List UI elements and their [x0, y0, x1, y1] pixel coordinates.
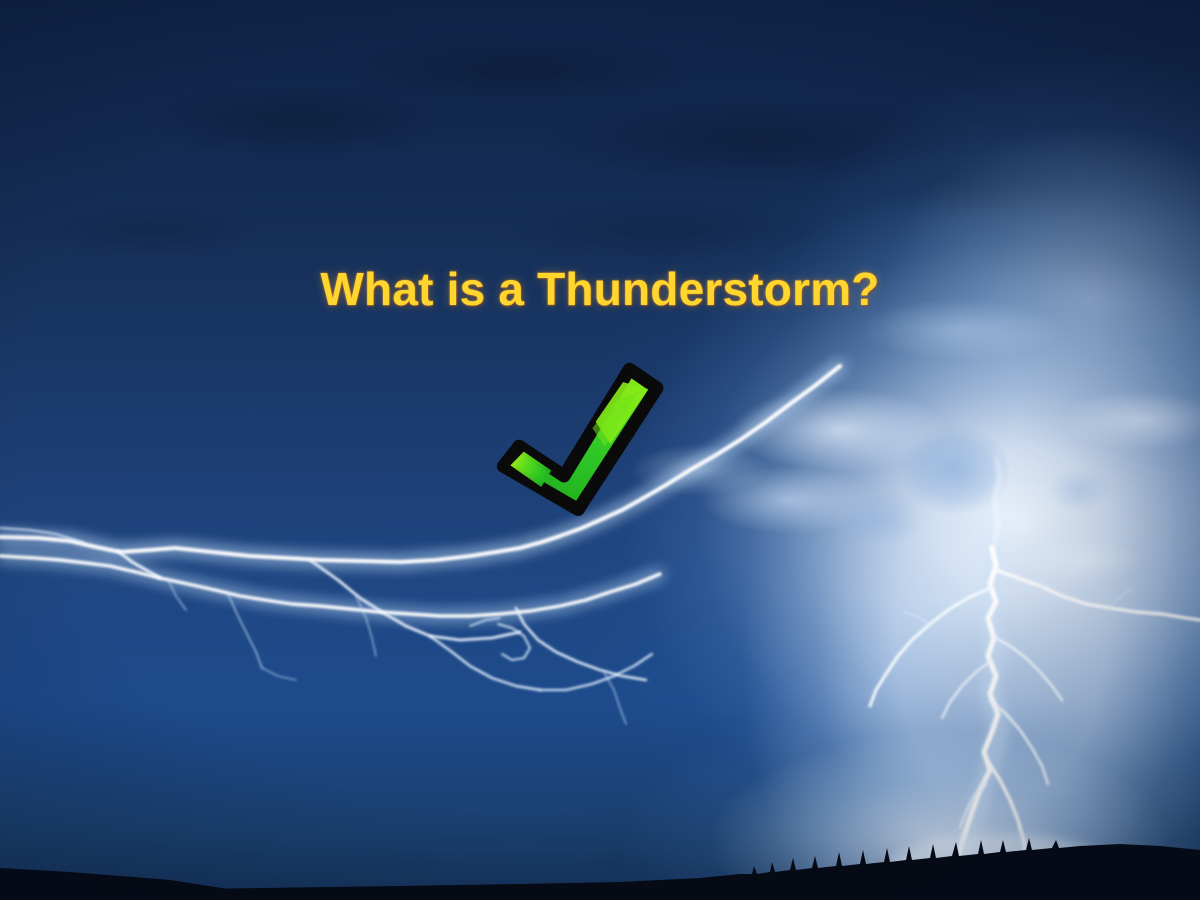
page-title: What is a Thunderstorm? — [0, 262, 1200, 316]
green-check-icon — [478, 362, 678, 520]
storm-scene-frame: What is a Thunderstorm? — [0, 0, 1200, 900]
lightning-bolt-horizontal — [0, 366, 840, 724]
lightning-bolt-vertical — [870, 458, 1200, 900]
